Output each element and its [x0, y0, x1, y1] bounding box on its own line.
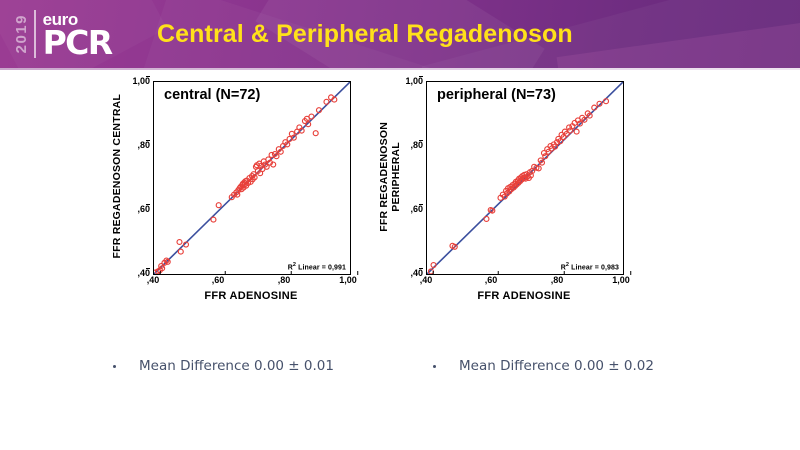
y-tick-0-80: ,80 [137, 140, 150, 150]
logo-wordmark: euro PCR [43, 11, 112, 57]
bullet-item-peripheral: Mean Difference 0.00 ± 0.02 [433, 358, 654, 374]
bullet-item-central: Mean Difference 0.00 ± 0.01 [113, 358, 334, 374]
slide-title: Central & Peripheral Regadenoson [157, 0, 573, 68]
y-tick-1-00: 1,00 [405, 76, 423, 86]
plot-title-peripheral: peripheral (N=73) [437, 87, 556, 103]
header-bottom-edge [0, 68, 800, 70]
scatter-chart-central: FFR REGADENOSON CENTRAL 1,00 ,80 ,60 ,40… [105, 74, 405, 324]
r2-annotation-peripheral: R2 Linear = 0,983 [561, 262, 619, 271]
plot-title-central: central (N=72) [164, 87, 260, 103]
plot-area-peripheral: peripheral (N=73) R2 Linear = 0,983 [426, 81, 624, 275]
bullet-dot-icon [433, 365, 436, 368]
y-tick-0-80: ,80 [410, 140, 423, 150]
y-tick-0-60: ,60 [410, 204, 423, 214]
x-tick-0-60: ,60 [212, 275, 225, 285]
bullet-list: Mean Difference 0.00 ± 0.01 Mean Differe… [0, 352, 800, 392]
x-tick-1-00: 1,00 [612, 275, 630, 285]
charts-container: FFR REGADENOSON CENTRAL 1,00 ,80 ,60 ,40… [0, 74, 800, 330]
y-axis-label-text: FFR REGADENOSONPERIPHERAL [378, 122, 402, 232]
y-axis-label-central: FFR REGADENOSON CENTRAL [105, 74, 129, 279]
x-axis-label-peripheral: FFR ADENOSINE [426, 290, 622, 302]
x-axis-ticks-central: ,40 ,60 ,80 1,00 [153, 273, 349, 289]
x-tick-0-60: ,60 [485, 275, 498, 285]
logo-divider [34, 10, 36, 58]
europcr-logo: 2019 euro PCR [14, 6, 112, 62]
x-axis-label-central: FFR ADENOSINE [153, 290, 349, 302]
logo-pcr-text: PCR [43, 29, 112, 57]
scatter-svg-central [154, 82, 350, 274]
y-axis-ticks-peripheral: 1,00 ,80 ,60 ,40 [400, 74, 426, 279]
y-tick-1-00: 1,00 [132, 76, 150, 86]
header-facet-4 [557, 15, 800, 68]
x-tick-0-80: ,80 [551, 275, 564, 285]
y-tick-0-60: ,60 [137, 204, 150, 214]
slide-header: 2019 euro PCR Central & Peripheral Regad… [0, 0, 800, 68]
x-tick-1-00: 1,00 [339, 275, 357, 285]
x-tick-0-80: ,80 [278, 275, 291, 285]
logo-year: 2019 [14, 14, 29, 53]
y-axis-ticks-central: 1,00 ,80 ,60 ,40 [127, 74, 153, 279]
r2-annotation-central: R2 Linear = 0,991 [288, 262, 346, 271]
x-tick-0-40: ,40 [147, 275, 160, 285]
y-axis-label-peripheral: FFR REGADENOSONPERIPHERAL [378, 74, 402, 279]
x-axis-ticks-peripheral: ,40 ,60 ,80 1,00 [426, 273, 622, 289]
scatter-chart-peripheral: FFR REGADENOSONPERIPHERAL 1,00 ,80 ,60 ,… [378, 74, 678, 324]
y-axis-label-text: FFR REGADENOSON CENTRAL [111, 94, 123, 258]
x-tick-0-40: ,40 [420, 275, 433, 285]
bullet-text-central: Mean Difference 0.00 ± 0.01 [139, 358, 334, 374]
bullet-dot-icon [113, 365, 116, 368]
bullet-text-peripheral: Mean Difference 0.00 ± 0.02 [459, 358, 654, 374]
scatter-svg-peripheral [427, 82, 623, 274]
plot-area-central: central (N=72) R2 Linear = 0,991 [153, 81, 351, 275]
